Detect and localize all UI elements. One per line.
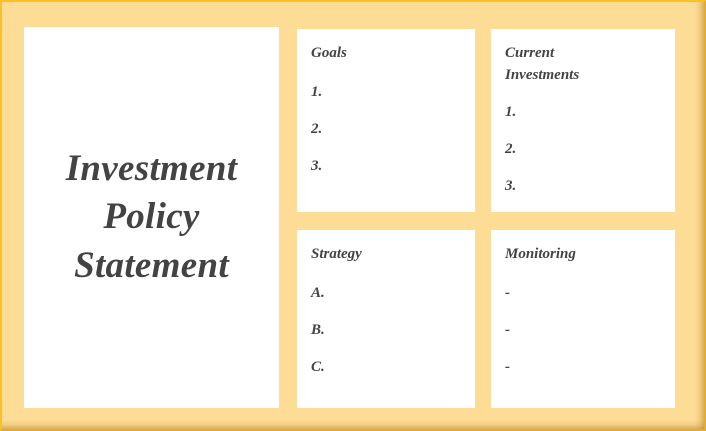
monitoring-panel: Monitoring - - -: [491, 230, 675, 408]
current-investments-list: 1. 2. 3.: [505, 105, 675, 194]
strategy-panel-content: Strategy A. B. C.: [297, 230, 475, 375]
page-title: Investment Policy Statement: [24, 145, 279, 289]
list-item: 2.: [311, 122, 475, 137]
strategy-panel: Strategy A. B. C.: [297, 230, 475, 408]
list-item: 2.: [505, 142, 675, 157]
monitoring-list: - - -: [505, 286, 675, 375]
list-item: C.: [311, 360, 475, 375]
list-item: -: [505, 360, 675, 375]
list-item: 1.: [311, 85, 475, 100]
strategy-heading: Strategy: [311, 244, 433, 266]
current-investments-heading: Current Investments: [505, 43, 627, 87]
monitoring-heading: Monitoring: [505, 244, 627, 266]
monitoring-panel-content: Monitoring - - -: [491, 230, 675, 375]
title-panel: Investment Policy Statement: [24, 27, 279, 408]
goals-heading: Goals: [311, 43, 433, 65]
list-item: 3.: [311, 159, 475, 174]
list-item: B.: [311, 323, 475, 338]
list-item: 1.: [505, 105, 675, 120]
goals-panel: Goals 1. 2. 3.: [297, 29, 475, 212]
current-investments-panel-content: Current Investments 1. 2. 3.: [491, 29, 675, 194]
slide-canvas: Investment Policy Statement Goals 1. 2. …: [0, 0, 706, 431]
strategy-list: A. B. C.: [311, 286, 475, 375]
list-item: A.: [311, 286, 475, 301]
current-investments-panel: Current Investments 1. 2. 3.: [491, 29, 675, 212]
list-item: -: [505, 286, 675, 301]
list-item: -: [505, 323, 675, 338]
goals-panel-content: Goals 1. 2. 3.: [297, 29, 475, 174]
goals-list: 1. 2. 3.: [311, 85, 475, 174]
list-item: 3.: [505, 179, 675, 194]
